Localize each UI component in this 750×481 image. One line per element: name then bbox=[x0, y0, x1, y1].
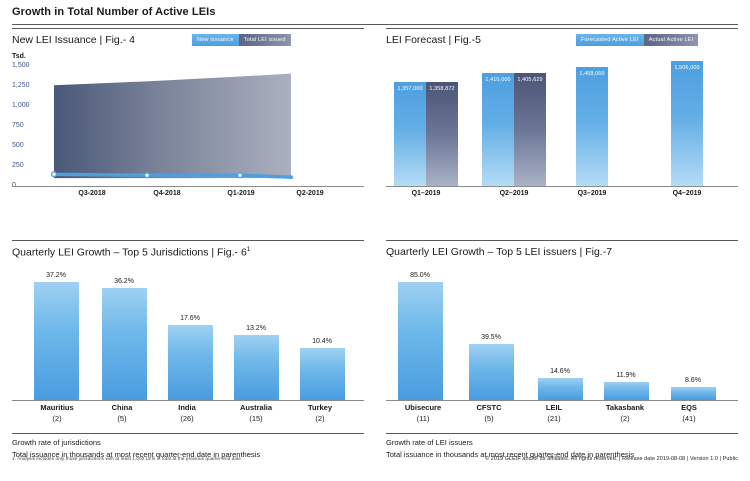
bar-eqs bbox=[671, 387, 716, 400]
fig7-category-labels: Ubisecure (11) CFSTC (5) LEIL (21) Takas… bbox=[386, 403, 738, 431]
fig7-bar-chart: 85.0% 39.5% 14.6% 11.9% 8.6% bbox=[386, 268, 738, 400]
category-count: (5) bbox=[477, 414, 502, 423]
bar-australia bbox=[234, 335, 279, 400]
bar-value: 1,405,629 bbox=[514, 77, 546, 83]
category-takasbank: Takasbank (2) bbox=[606, 403, 644, 423]
category-name: Ubisecure bbox=[405, 403, 441, 412]
bar-forecasted: 1,506,000 bbox=[671, 61, 703, 186]
category-name: India bbox=[178, 403, 196, 412]
x-label: Q2-2019 bbox=[296, 190, 323, 197]
bar-china bbox=[102, 288, 147, 400]
panel-divider bbox=[386, 240, 738, 241]
category-australia: Australia (15) bbox=[240, 403, 272, 423]
bar-group-q3-2019: 1,458,000 bbox=[576, 67, 608, 186]
fig7-x-axis bbox=[386, 400, 738, 401]
fig6-title-footnote-marker: 1 bbox=[247, 246, 251, 253]
bar-actual: 1,358,872 bbox=[426, 82, 458, 186]
panel-divider bbox=[12, 240, 364, 241]
category-count: (26) bbox=[178, 414, 196, 423]
bar-value: 17.6% bbox=[180, 315, 200, 322]
legend-item-forecasted-active-lei: Forecasted Active LEI bbox=[576, 34, 644, 46]
panel-divider bbox=[12, 28, 364, 29]
x-label: Q3-2018 bbox=[78, 190, 105, 197]
bar-takasbank bbox=[604, 382, 649, 400]
fig5-x-axis bbox=[386, 186, 738, 187]
bar-value: 39.5% bbox=[481, 334, 501, 341]
bar-value: 1,357,000 bbox=[394, 86, 426, 92]
x-label: Q3–2019 bbox=[578, 190, 607, 197]
fig7-footer-divider bbox=[386, 433, 738, 434]
bar-group-q4-2019: 1,506,000 bbox=[671, 61, 703, 186]
category-leil: LEIL (21) bbox=[546, 403, 562, 423]
category-mauritius: Mauritius (2) bbox=[40, 403, 73, 423]
category-count: (41) bbox=[681, 414, 697, 423]
x-label: Q4–2019 bbox=[673, 190, 702, 197]
bar-value: 14.6% bbox=[550, 368, 570, 375]
category-name: Turkey bbox=[308, 403, 332, 412]
fig6-footer-divider bbox=[12, 433, 364, 434]
panel-divider bbox=[386, 28, 738, 29]
page-title: Growth in Total Number of Active LEIs bbox=[12, 6, 216, 18]
fig5-title: LEI Forecast | Fig.-5 bbox=[386, 34, 481, 46]
x-label: Q2–2019 bbox=[500, 190, 529, 197]
fig6-x-axis bbox=[12, 400, 364, 401]
bar-value: 85.0% bbox=[410, 272, 430, 279]
fig6-category-labels: Mauritius (2) China (5) India (26) Austr… bbox=[12, 403, 364, 431]
bar-value: 37.2% bbox=[46, 272, 66, 279]
bar-turkey bbox=[300, 348, 345, 400]
category-count: (11) bbox=[405, 414, 441, 423]
category-name: EQS bbox=[681, 403, 697, 412]
data-point bbox=[238, 173, 243, 178]
category-china: China (5) bbox=[112, 403, 133, 423]
category-name: Takasbank bbox=[606, 403, 644, 412]
bar-value: 11.9% bbox=[616, 372, 635, 379]
fig4-area-chart bbox=[12, 62, 364, 182]
fig5-legend: Forecasted Active LEI Actual Active LEI bbox=[576, 34, 698, 46]
category-count: (2) bbox=[40, 414, 73, 423]
bar-mauritius bbox=[34, 282, 79, 400]
x-label: Q1-2019 bbox=[227, 190, 254, 197]
category-ubisecure: Ubisecure (11) bbox=[405, 403, 441, 423]
fig6-title: Quarterly LEI Growth – Top 5 Jurisdictio… bbox=[12, 246, 250, 259]
category-count: (21) bbox=[546, 414, 562, 423]
total-lei-issued-area bbox=[54, 74, 291, 179]
panel-new-lei-issuance: New LEI Issuance | Fig.- 4 New issuance … bbox=[12, 28, 364, 228]
panel-lei-forecast: LEI Forecast | Fig.-5 Forecasted Active … bbox=[386, 28, 738, 228]
data-point bbox=[289, 175, 293, 179]
x-label: Q4-2018 bbox=[153, 190, 180, 197]
category-name: Australia bbox=[240, 403, 272, 412]
data-point bbox=[52, 172, 57, 177]
bar-value: 1,506,000 bbox=[671, 65, 703, 71]
bar-value: 1,458,000 bbox=[576, 71, 608, 77]
category-count: (5) bbox=[112, 414, 133, 423]
fig6-title-text: Quarterly LEI Growth – Top 5 Jurisdictio… bbox=[12, 247, 247, 259]
category-count: (2) bbox=[606, 414, 644, 423]
bar-forecasted: 1,357,000 bbox=[394, 82, 426, 186]
legend-item-actual-active-lei: Actual Active LEI bbox=[644, 34, 699, 46]
note-line: Growth rate of LEI issuers bbox=[386, 437, 738, 449]
bar-value: 1,410,000 bbox=[482, 77, 514, 83]
footnote-text: 1. Analysis includes only those jurisdic… bbox=[12, 456, 241, 461]
fig6-bar-chart: 37.2% 36.2% 17.6% 13.2% 10.4% bbox=[12, 268, 364, 400]
category-count: (2) bbox=[308, 414, 332, 423]
header-divider bbox=[12, 24, 738, 25]
bar-value: 36.2% bbox=[114, 278, 134, 285]
category-name: Mauritius bbox=[40, 403, 73, 412]
bar-group-q1-2019: 1,357,000 1,358,872 bbox=[394, 82, 458, 186]
fig5-bar-chart: 1,357,000 1,358,872 1,410,000 1,405,629 … bbox=[386, 58, 738, 186]
legend-item-total-lei-issued: Total LEI issued bbox=[239, 34, 291, 46]
bar-value: 1,358,872 bbox=[426, 86, 458, 92]
x-label: Q1–2019 bbox=[412, 190, 441, 197]
category-eqs: EQS (41) bbox=[681, 403, 697, 423]
bar-actual: 1,405,629 bbox=[514, 73, 546, 186]
category-india: India (26) bbox=[178, 403, 196, 423]
fig7-title: Quarterly LEI Growth – Top 5 LEI issuers… bbox=[386, 246, 612, 258]
bar-value: 10.4% bbox=[312, 338, 332, 345]
category-cfstc: CFSTC (5) bbox=[477, 403, 502, 423]
category-turkey: Turkey (2) bbox=[308, 403, 332, 423]
note-line: Growth rate of jurisdictions bbox=[12, 437, 364, 449]
fig4-unit-label: Tsd. bbox=[12, 53, 26, 60]
report-page: Growth in Total Number of Active LEIs Ne… bbox=[0, 0, 750, 481]
data-point bbox=[145, 173, 150, 178]
bar-leil bbox=[538, 378, 583, 400]
category-count: (15) bbox=[240, 414, 272, 423]
fig4-x-labels: Q3-2018 Q4-2018 Q1-2019 Q2-2019 bbox=[12, 190, 364, 204]
panel-top5-lei-issuers: Quarterly LEI Growth – Top 5 LEI issuers… bbox=[386, 240, 738, 472]
copyright-text: © 2019 GLEIF and/or its affiliates. All … bbox=[485, 456, 738, 462]
bar-value: 13.2% bbox=[246, 325, 266, 332]
legend-item-new-issuance: New issuance bbox=[192, 34, 239, 46]
fig4-legend: New issuance Total LEI issued bbox=[192, 34, 291, 46]
category-name: CFSTC bbox=[477, 403, 502, 412]
bar-ubisecure bbox=[398, 282, 443, 400]
fig4-title: New LEI Issuance | Fig.- 4 bbox=[12, 34, 135, 46]
bar-forecasted: 1,458,000 bbox=[576, 67, 608, 186]
bar-forecasted: 1,410,000 bbox=[482, 73, 514, 186]
category-name: LEIL bbox=[546, 403, 562, 412]
bar-india bbox=[168, 325, 213, 400]
bar-group-q2-2019: 1,410,000 1,405,629 bbox=[482, 73, 546, 186]
fig5-x-labels: Q1–2019 Q2–2019 Q3–2019 Q4–2019 bbox=[386, 190, 738, 204]
fig4-x-axis bbox=[12, 186, 364, 187]
bar-cfstc bbox=[469, 344, 514, 400]
panel-top5-jurisdictions: Quarterly LEI Growth – Top 5 Jurisdictio… bbox=[12, 240, 364, 472]
category-name: China bbox=[112, 403, 133, 412]
bar-value: 8.6% bbox=[685, 377, 701, 384]
